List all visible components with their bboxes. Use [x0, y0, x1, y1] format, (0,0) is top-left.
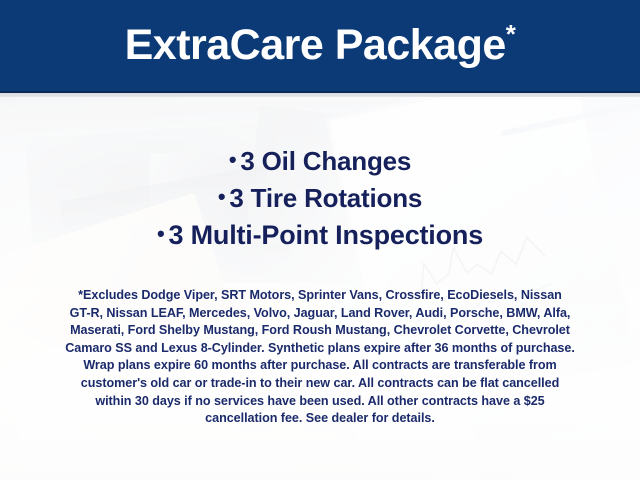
- benefit-item-tire-rotations: •3 Tire Rotations: [0, 179, 640, 216]
- bullet-icon: •: [157, 221, 165, 246]
- disclaimer-line: Wrap plans expire 60 months after purcha…: [36, 357, 604, 375]
- title-asterisk: *: [506, 19, 516, 49]
- benefit-item-label: 3 Oil Changes: [240, 146, 411, 176]
- disclaimer-text: *Excludes Dodge Viper, SRT Motors, Sprin…: [36, 287, 604, 428]
- header-underline: [0, 93, 640, 97]
- disclaimer-line: Camaro SS and Lexus 8-Cylinder. Syntheti…: [36, 340, 604, 358]
- benefit-item-multi-point-inspections: •3 Multi-Point Inspections: [0, 216, 640, 253]
- bullet-icon: •: [218, 184, 226, 209]
- disclaimer-line: customer's old car or trade-in to their …: [36, 375, 604, 393]
- disclaimer-line: GT-R, Nissan LEAF, Mercedes, Volvo, Jagu…: [36, 305, 604, 323]
- page-title: ExtraCare Package*: [0, 17, 640, 73]
- header-banner: ExtraCare Package*: [0, 0, 640, 93]
- benefits-list: •3 Oil Changes •3 Tire Rotations •3 Mult…: [0, 142, 640, 253]
- disclaimer-line: Maserati, Ford Shelby Mustang, Ford Rous…: [36, 322, 604, 340]
- benefit-item-label: 3 Multi-Point Inspections: [169, 220, 484, 250]
- bullet-icon: •: [229, 147, 237, 172]
- disclaimer-line: *Excludes Dodge Viper, SRT Motors, Sprin…: [36, 287, 604, 305]
- page-title-text: ExtraCare Package: [125, 21, 506, 69]
- disclaimer-line: within 30 days if no services have been …: [36, 393, 604, 411]
- benefit-item-oil-changes: •3 Oil Changes: [0, 142, 640, 179]
- disclaimer-line: cancellation fee. See dealer for details…: [36, 410, 604, 428]
- benefit-item-label: 3 Tire Rotations: [229, 183, 422, 213]
- extracare-package-ad: ExtraCare Package* •3 Oil Changes •3 Tir…: [0, 0, 640, 480]
